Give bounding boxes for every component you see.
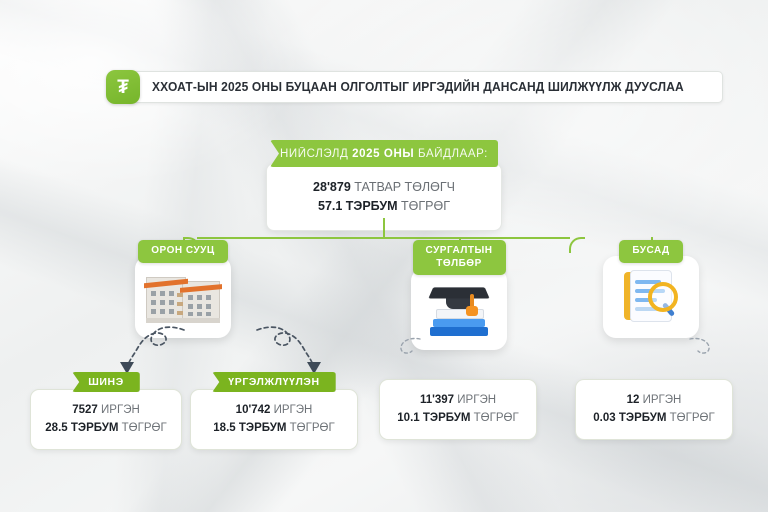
category-image-tuition (411, 268, 507, 350)
root-stat-row-2: 57.1 ТЭРБУМ ТӨГРӨГ (277, 197, 491, 216)
category-label-tuition: СУРГАЛТЫН ТӨЛБӨР (413, 240, 506, 275)
leaf-value-2: 10.1 ТЭРБУМ (397, 412, 470, 424)
root-stat-row-1: 28'879 ТАТВАР ТӨЛӨГЧ (277, 178, 491, 197)
category-node-tuition: СУРГАЛТЫН ТӨЛБӨР (405, 240, 513, 350)
category-image-other (603, 256, 699, 338)
leaf-label-1: ИРГЭН (101, 404, 140, 416)
leaf-label-2: ТӨГРӨГ (474, 412, 519, 424)
leaf-stats-continued: 10'742 ИРГЭН 18.5 ТЭРБУМ ТӨГРӨГ (190, 389, 358, 450)
leaf-stat-row: 10.1 ТЭРБУМ ТӨГРӨГ (388, 409, 528, 427)
leaf-value-2: 18.5 ТЭРБУМ (213, 422, 286, 434)
category-node-housing: ОРОН СУУЦ (129, 240, 237, 338)
root-ribbon-prefix: НИЙСЛЭЛД (280, 148, 348, 160)
graduation-cap-icon (426, 280, 492, 338)
leaf-node-continued: ҮРГЭЛЖЛҮҮЛЭН 10'742 ИРГЭН 18.5 ТЭРБУМ ТӨ… (190, 372, 358, 450)
leaf-label-1: ИРГЭН (457, 394, 496, 406)
infographic-canvas: ₮ ХХОАТ-ЫН 2025 ОНЫ БУЦААН ОЛГОЛТЫГ ИРГЭ… (0, 0, 768, 512)
root-stat-label-2: ТӨГРӨГ (401, 199, 450, 213)
leaf-value-1: 12 (627, 394, 640, 406)
category-node-other: БУСАД (597, 240, 705, 338)
tugrik-symbol: ₮ (117, 78, 129, 97)
leaf-label-new: ШИНЭ (72, 372, 140, 392)
leaf-value-2: 0.03 ТЭРБУМ (593, 412, 666, 424)
leaf-stat-row: 18.5 ТЭРБУМ ТӨГРӨГ (199, 419, 349, 437)
leaf-stats-new: 7527 ИРГЭН 28.5 ТЭРБУМ ТӨГРӨГ (30, 389, 182, 450)
tugrik-icon: ₮ (106, 70, 140, 104)
leaf-node-other-total: 12 ИРГЭН 0.03 ТЭРБУМ ТӨГРӨГ (575, 382, 733, 440)
leaf-node-new: ШИНЭ 7527 ИРГЭН 28.5 ТЭРБУМ ТӨГРӨГ (30, 372, 182, 450)
category-image-housing (135, 256, 231, 338)
connector-horizontal-bus (197, 237, 570, 239)
curly-swirl-other-icon (688, 336, 714, 358)
leaf-value-1: 10'742 (236, 404, 271, 416)
leaf-stats-tuition-total: 11'397 ИРГЭН 10.1 ТЭРБУМ ТӨГРӨГ (379, 379, 537, 440)
leaf-label-continued: ҮРГЭЛЖЛҮҮЛЭН (212, 372, 335, 392)
leaf-stat-row: 10'742 ИРГЭН (199, 401, 349, 419)
root-stat-value-1: 28'879 (313, 180, 351, 194)
connector-root-stem (383, 218, 385, 238)
root-ribbon-suffix: БАЙДЛААР: (418, 148, 488, 160)
connector-elbow-right (569, 237, 585, 253)
category-label-other: БУСАД (619, 240, 682, 263)
category-label-housing: ОРОН СУУЦ (138, 240, 227, 263)
leaf-stats-other-total: 12 ИРГЭН 0.03 ТЭРБУМ ТӨГРӨГ (575, 379, 733, 440)
leaf-stat-row: 11'397 ИРГЭН (388, 391, 528, 409)
leaf-label-2: ТӨГРӨГ (290, 422, 335, 434)
header-title-plate: ХХОАТ-ЫН 2025 ОНЫ БУЦААН ОЛГОЛТЫГ ИРГЭДИ… (128, 71, 723, 103)
document-search-icon (620, 266, 682, 328)
leaf-label-1: ИРГЭН (643, 394, 682, 406)
root-stat-value-2: 57.1 ТЭРБУМ (318, 199, 398, 213)
category-label-tuition-line2: ТӨЛБӨР (436, 258, 482, 269)
leaf-label-2: ТӨГРӨГ (122, 422, 167, 434)
header-title-bar: ₮ ХХОАТ-ЫН 2025 ОНЫ БУЦААН ОЛГОЛТЫГ ИРГЭ… (106, 70, 723, 104)
page-title: ХХОАТ-ЫН 2025 ОНЫ БУЦААН ОЛГОЛТЫГ ИРГЭДИ… (152, 80, 684, 94)
leaf-stat-row: 12 ИРГЭН (584, 391, 724, 409)
root-ribbon-year: 2025 ОНЫ (352, 148, 414, 160)
leaf-value-1: 11'397 (420, 394, 454, 406)
curly-arrow-right-icon (255, 322, 381, 374)
leaf-value-2: 28.5 ТЭРБУМ (45, 422, 118, 434)
apartment-building-icon (144, 271, 222, 323)
root-stat-label-1: ТАТВАР ТӨЛӨГЧ (354, 180, 455, 194)
leaf-node-tuition-total: 11'397 ИРГЭН 10.1 ТЭРБУМ ТӨГРӨГ (379, 382, 537, 440)
leaf-value-1: 7527 (72, 404, 98, 416)
root-ribbon-label: НИЙСЛЭЛД 2025 ОНЫ БАЙДЛААР: (270, 140, 498, 167)
leaf-label-2: ТӨГРӨГ (670, 412, 715, 424)
leaf-stat-row: 7527 ИРГЭН (39, 401, 173, 419)
leaf-label-1: ИРГЭН (274, 404, 313, 416)
leaf-stat-row: 28.5 ТЭРБУМ ТӨГРӨГ (39, 419, 173, 437)
leaf-stat-row: 0.03 ТЭРБУМ ТӨГРӨГ (584, 409, 724, 427)
category-label-tuition-line1: СУРГАЛТЫН (426, 245, 493, 256)
